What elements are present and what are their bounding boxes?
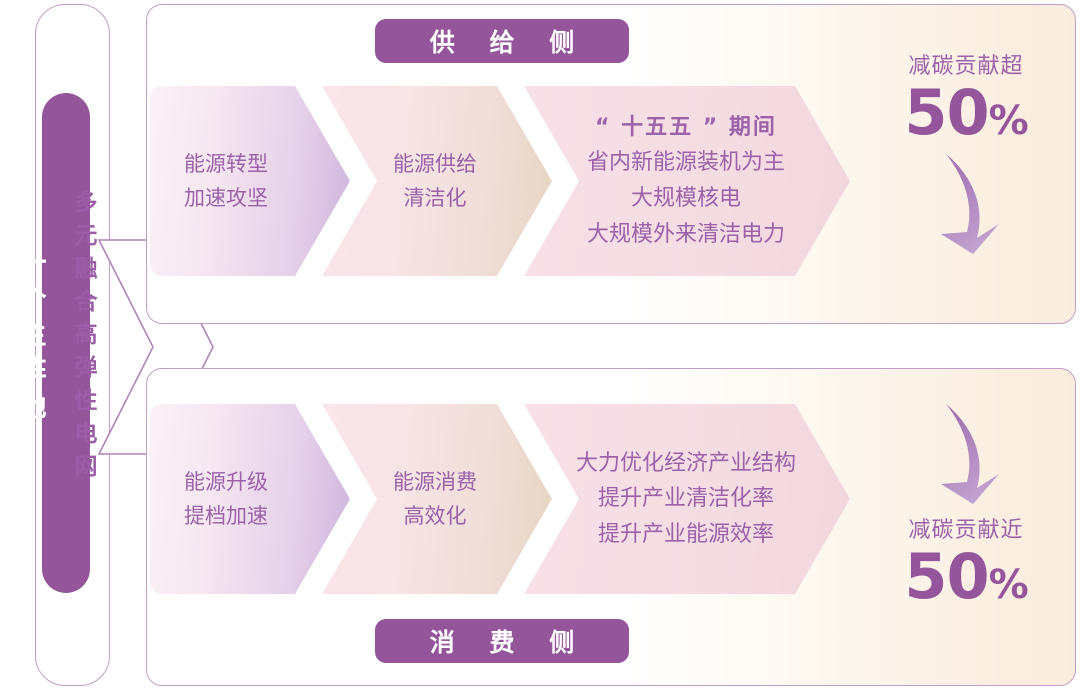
supply-arrow-2-line2: 清洁化	[393, 181, 477, 215]
consumption-arrow-row: 能源升级 提档加速 能源消费 高效化 大力优化经济产业结构 提升产业清洁化率 提…	[150, 404, 850, 594]
consumption-arrow-2-line1: 能源消费	[393, 465, 477, 499]
consumption-arrow-1-line1: 能源升级	[184, 465, 268, 499]
supply-arrow-1-line1: 能源转型	[184, 147, 268, 181]
supply-stat-value: 50%	[866, 82, 1066, 144]
consumption-arrow-3-line2: 提升产业清洁化率	[576, 481, 796, 517]
consumption-curved-arrow-wrap	[866, 400, 1066, 508]
supply-arrow-3-line1: “ 十五五 ” 期间	[587, 110, 785, 146]
consumption-arrow-2-line2: 高效化	[393, 499, 477, 533]
consumption-stat-number: 50	[904, 540, 988, 613]
consumption-arrow-2: 能源消费 高效化	[322, 404, 552, 594]
supply-arrow-3: “ 十五五 ” 期间 省内新能源装机为主 大规模核电 大规模外来清洁电力	[524, 86, 850, 276]
consumption-arrow-3-line3: 提升产业能源效率	[576, 517, 796, 553]
supply-arrow-1: 能源转型 加速攻坚	[150, 86, 350, 276]
supply-arrow-2: 能源供给 清洁化	[322, 86, 552, 276]
supply-stat-percent: %	[989, 98, 1028, 144]
supply-curved-arrow-wrap	[866, 150, 1066, 258]
supply-arrow-3-line4: 大规模外来清洁电力	[587, 217, 785, 253]
supply-stat-block: 减碳贡献超 50%	[866, 48, 1066, 258]
consumption-arrow-3: 大力优化经济产业结构 提升产业清洁化率 提升产业能源效率	[524, 404, 850, 594]
consumption-arrow-1: 能源升级 提档加速	[150, 404, 350, 594]
diagram-canvas: 一个主阵地 多元融合高弹性电网 供 给 侧 能源转型 加速攻坚 能源供给 清洁化…	[0, 0, 1080, 690]
consumption-stat-percent: %	[989, 562, 1028, 608]
supply-arrow-1-line2: 加速攻坚	[184, 181, 268, 215]
consumption-stat-block: 减碳贡献近 50%	[866, 400, 1066, 608]
supply-arrow-row: 能源转型 加速攻坚 能源供给 清洁化 “ 十五五 ” 期间 省内新能源装机为主 …	[150, 86, 850, 276]
consumption-side-badge: 消 费 侧	[375, 619, 629, 663]
curved-down-arrow-icon	[929, 152, 1003, 256]
consumption-stat-value: 50%	[866, 546, 1066, 608]
consumption-arrow-1-line2: 提档加速	[184, 499, 268, 533]
supply-arrow-3-line2: 省内新能源装机为主	[587, 145, 785, 181]
supply-side-badge: 供 给 侧	[375, 19, 629, 63]
consumption-arrow-3-line1: 大力优化经济产业结构	[576, 446, 796, 482]
supply-stat-number: 50	[904, 76, 988, 149]
supply-arrow-3-line3: 大规模核电	[587, 181, 785, 217]
left-pill-label: 一个主阵地	[6, 88, 54, 588]
supply-arrow-2-line1: 能源供给	[393, 147, 477, 181]
curved-down-arrow-icon	[929, 402, 1003, 506]
